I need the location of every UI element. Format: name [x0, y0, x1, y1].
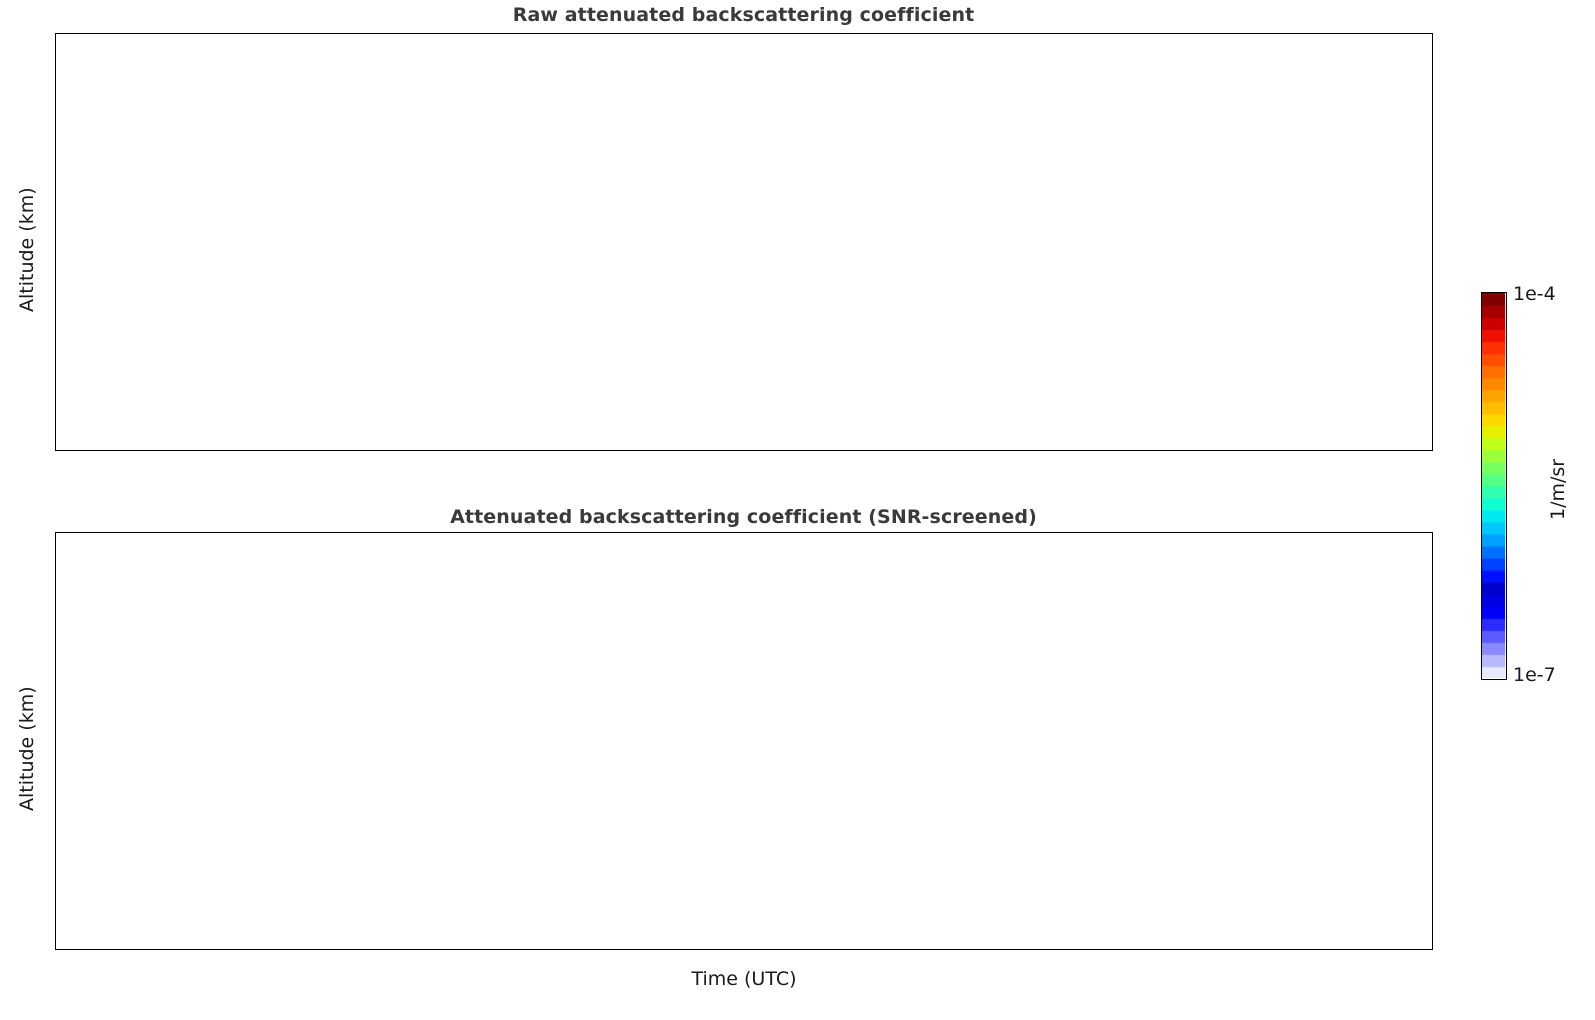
axis-ticks-layer: [0, 0, 1595, 1020]
figure-root: Raw attenuated backscattering coefficien…: [0, 0, 1595, 1020]
